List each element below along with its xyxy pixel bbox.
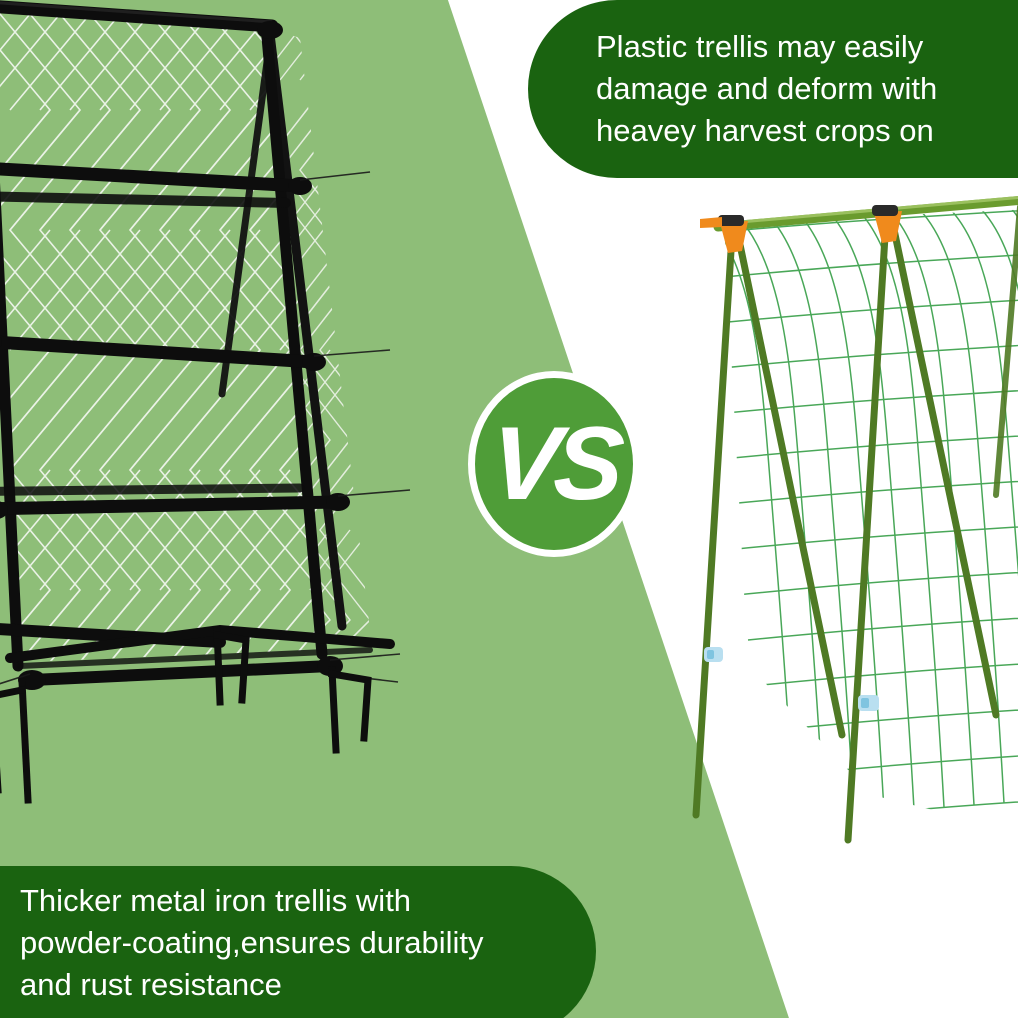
banner-top-line-1: Plastic trellis may easily — [596, 26, 1018, 68]
banner-bottom-line-3: and rust resistance — [20, 964, 536, 1006]
banner-top-line-2: damage and deform with — [596, 68, 1018, 110]
frame-top-rail — [0, 0, 272, 26]
clip-icon — [858, 695, 879, 711]
product-image-plastic-trellis — [690, 195, 1018, 865]
banner-plastic-trellis-drawback: Plastic trellis may easily damage and de… — [528, 0, 1018, 178]
frame-front-uprights — [0, 8, 322, 666]
clip-icon — [704, 647, 723, 662]
banner-bottom-line-1: Thicker metal iron trellis with — [20, 880, 536, 922]
banner-top-line-3: heavey harvest crops on — [596, 110, 1018, 152]
versus-badge-label: VS — [487, 412, 621, 516]
net-clips — [704, 647, 879, 711]
comparison-image-canvas: VS Plastic trellis may easily damage and… — [0, 0, 1018, 1018]
versus-badge: VS — [468, 371, 640, 557]
banner-bottom-line-2: powder-coating,ensures durability — [20, 922, 536, 964]
banner-metal-trellis-benefit: Thicker metal iron trellis with powder-c… — [0, 866, 596, 1018]
product-image-metal-trellis — [0, 0, 440, 820]
orange-connector-icon — [700, 215, 748, 253]
